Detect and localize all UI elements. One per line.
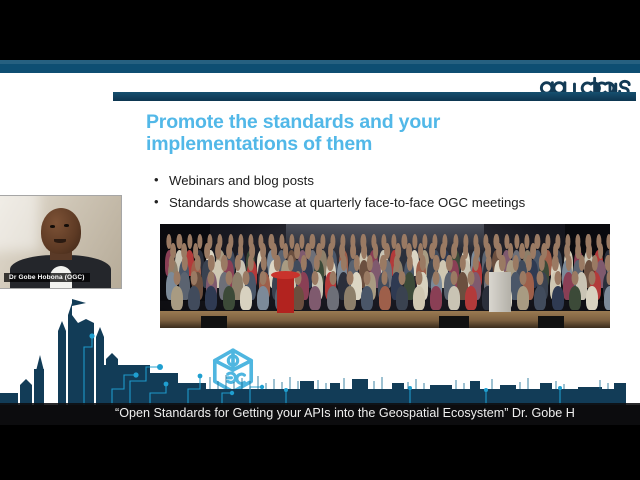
city-skyline-graphic [0,297,640,405]
slide-header-bar [113,92,636,101]
slide-title-line2: implementations of them [146,133,566,155]
caption-text: “Open Standards for Getting your APIs in… [115,406,575,420]
video-player-stage: Promote the standards and your implement… [0,0,640,480]
webcam-light-blur [0,196,39,251]
slide-bullet-list: Webinars and blog posts Standards showca… [152,170,612,214]
caption-band: “Open Standards for Getting your APIs in… [0,403,640,425]
webcam-speaker-mouth [54,239,66,243]
strip-sheen [0,60,640,64]
slide-title-line1: Promote the standards and your [146,111,566,133]
slide-title: Promote the standards and your implement… [146,111,566,155]
speaker-name-label: Dr Gobe Hobona (OGC) [4,273,90,282]
bullet-item: Standards showcase at quarterly face-to-… [152,192,612,214]
bullet-item: Webinars and blog posts [152,170,612,192]
letterbox-top [0,0,640,60]
webcam-speaker-eye-right [64,224,69,227]
slide-top-strip [0,60,640,73]
letterbox-bottom [0,425,640,480]
webcam-speaker-head [41,208,81,254]
speaker-webcam-thumbnail[interactable]: Dr Gobe Hobona (OGC) [0,196,121,288]
webcam-speaker-eye-left [50,225,55,228]
